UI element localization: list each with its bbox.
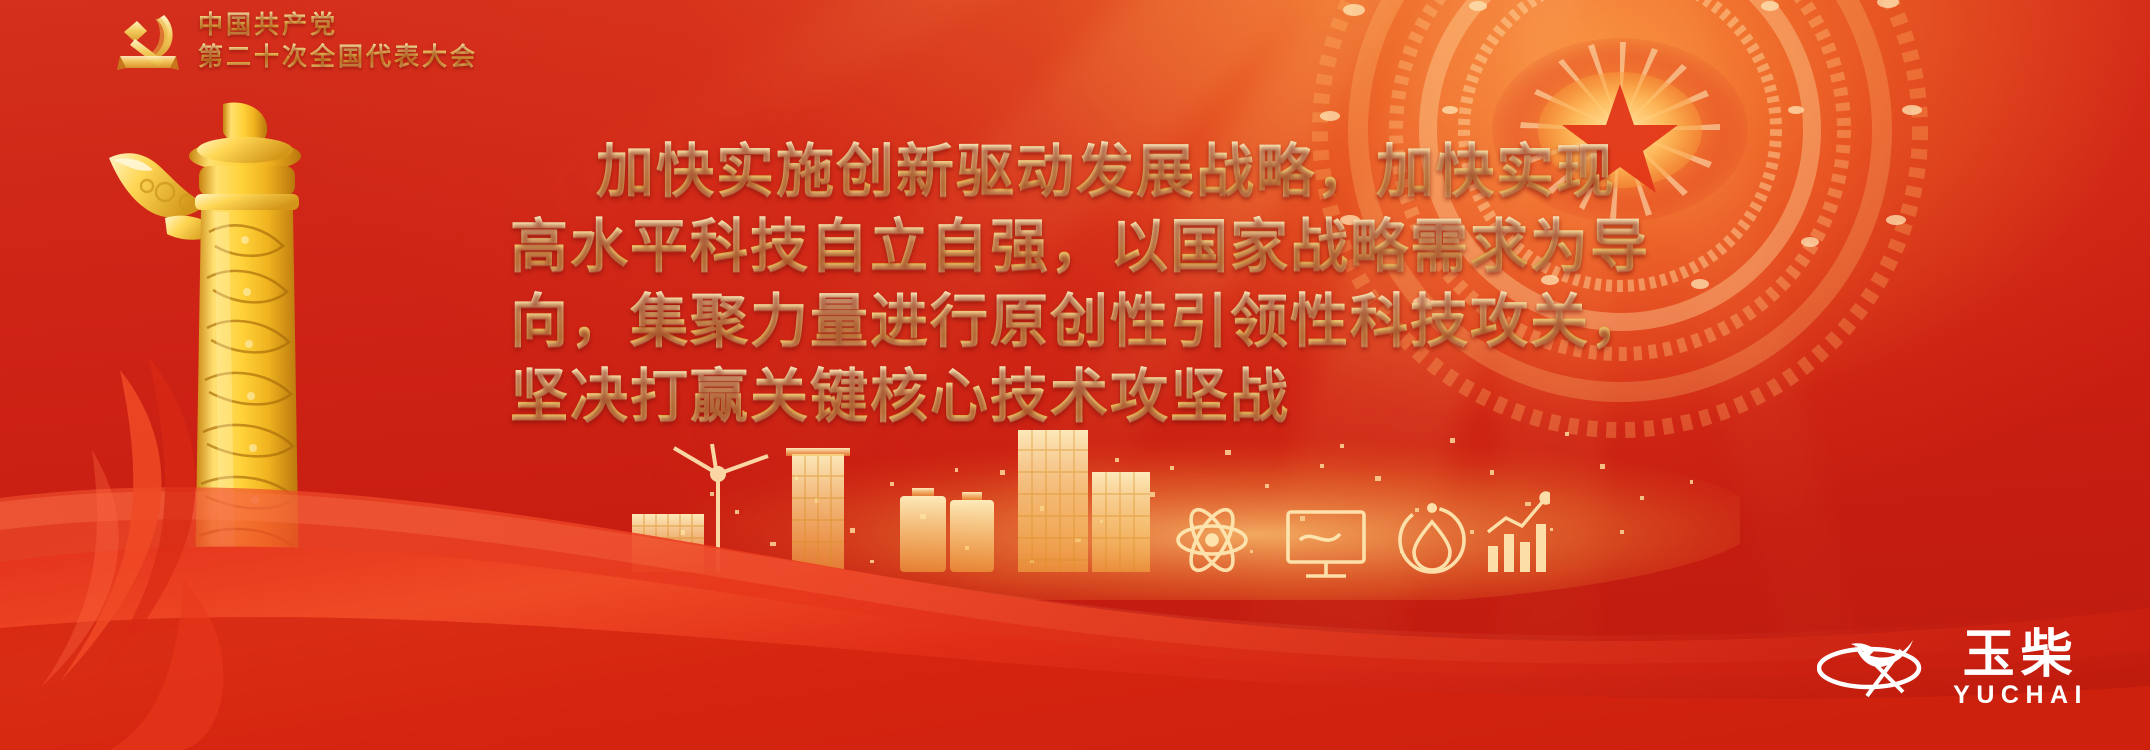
congress-logo-line2: 第二十次全国代表大会 <box>198 43 478 72</box>
headline: 加快实施创新驱动发展战略，加快实现 高水平科技自立自强，以国家战略需求为导 向，… <box>500 140 1750 440</box>
headline-line-1: 加快实施创新驱动发展战略，加快实现 <box>500 140 1750 205</box>
wind-turbine-icon <box>674 444 768 572</box>
congress-logo-text: 中国共产党 第二十次全国代表大会 <box>198 11 478 71</box>
yuchai-name-cn: 玉柴 <box>1963 629 2079 681</box>
yuchai-swoosh-icon <box>1817 630 1935 708</box>
yuchai-logo: 玉柴 YUCHAI <box>1817 629 2088 708</box>
city-skyline-icon <box>600 430 1550 610</box>
office-building-icon <box>632 514 704 572</box>
monitor-icon <box>1288 512 1364 576</box>
growth-arrow-icon <box>1488 493 1550 532</box>
growth-bar-chart-icon <box>1488 524 1546 572</box>
yuchai-name-en: YUCHAI <box>1953 683 2088 708</box>
skyscraper-icon <box>1018 430 1150 572</box>
congress-banner: 中国共产党 第二十次全国代表大会 <box>0 0 2150 750</box>
headline-line-2: 高水平科技自立自强，以国家战略需求为导 <box>500 215 1750 280</box>
hammer-and-sickle-icon <box>112 8 184 74</box>
congress-logo-line1: 中国共产党 <box>198 11 478 40</box>
headline-line-4: 坚决打赢关键核心技术攻坚战 <box>500 365 1750 430</box>
yuchai-wordmark: 玉柴 YUCHAI <box>1953 629 2088 708</box>
huabiao-pillar-icon <box>95 100 355 580</box>
atom-icon <box>1178 504 1246 577</box>
headline-line-3: 向，集聚力量进行原创性引领性科技攻关， <box>500 290 1750 355</box>
tower-building-icon <box>786 448 850 572</box>
water-drop-recycle-icon <box>1400 503 1464 572</box>
twin-building-icon <box>900 488 994 572</box>
congress-logo: 中国共产党 第二十次全国代表大会 <box>112 8 478 74</box>
